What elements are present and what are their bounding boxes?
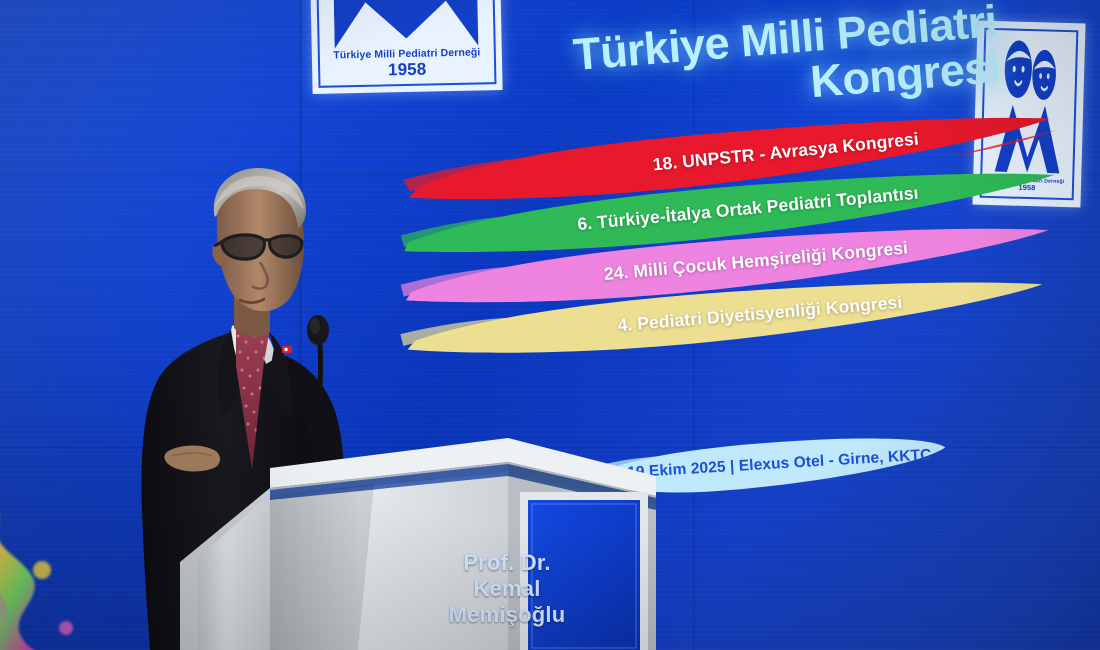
rainbow-paint-splash — [0, 452, 116, 650]
nameplate-line-2: Kemal — [447, 576, 567, 602]
lectern-nameplate: Prof. Dr. Kemal Memişoğlu — [447, 550, 567, 628]
nameplate-line-1: Prof. Dr. — [447, 550, 567, 576]
eyeglasses — [214, 235, 302, 259]
society-logo-left: Türkiye Milli Pediatri Derneği 1958 — [309, 0, 502, 94]
stage-photo: Türkiye Milli Pediatri Derneği 1958 — [0, 0, 1100, 650]
sub-congress-banner-list: 18. UNPSTR - Avrasya Kongresi 6. Türkiye… — [400, 126, 1060, 426]
pediatri-dernegi-mark — [330, 0, 482, 51]
nameplate-line-3: Memişoğlu — [447, 602, 567, 628]
logo-left-line2: 1958 — [320, 59, 494, 80]
lectern — [178, 432, 656, 650]
